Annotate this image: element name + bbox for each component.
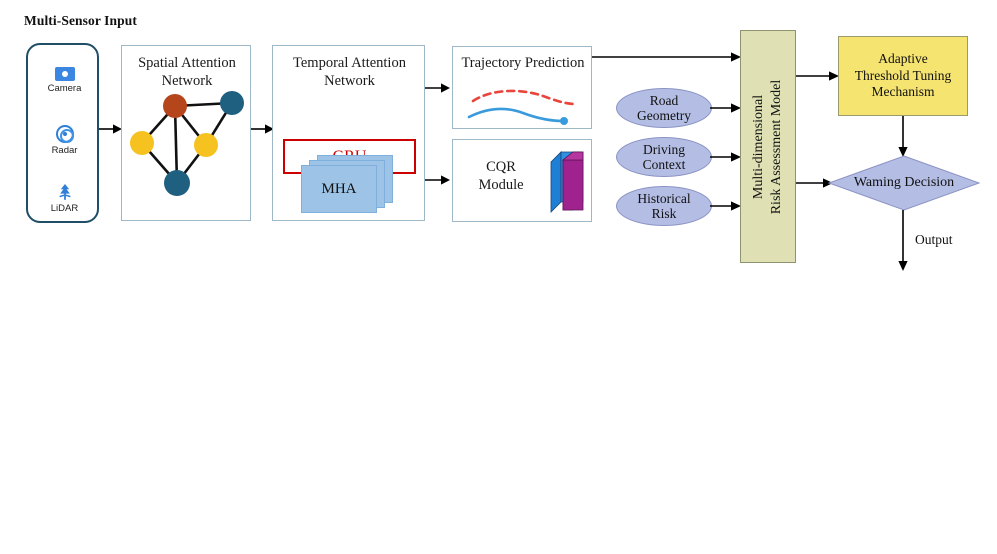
temporal-attention-title: Temporal Attention Network [273,55,426,90]
cqr-module-box[interactable]: CQR Module [452,139,592,222]
multi-sensor-input-box[interactable]: Camera Radar LiDAR [26,43,99,223]
risk-model-line2: Risk Assessment Model [768,79,786,214]
flowchart-diagram: Multi-Sensor Input Camera Radar LiDAR [0,0,997,554]
sensor-lidar-label: LiDAR [28,203,101,214]
trajectory-curves-icon [465,83,583,127]
warning-decision-label: Waming Decision [828,155,980,211]
risk-model-line1: Multi-dimensional [750,79,768,214]
trajectory-prediction-title: Trajectory Prediction [453,55,593,73]
output-label: Output [915,232,953,248]
adaptive-line2: Threshold Tuning [855,68,951,85]
arrow-driving-context-to-risk-model [710,150,742,164]
context-input-road-geometry[interactable]: Road Geometry [616,88,712,128]
context-input-driving-context[interactable]: Driving Context [616,137,712,177]
adaptive-threshold-label: Adaptive Threshold Tuning Mechanism [855,51,951,102]
adaptive-line3: Mechanism [855,84,951,101]
road-geometry-line2: Geometry [637,108,691,123]
sensor-radar-label: Radar [28,145,101,156]
spatial-title-line1: Spatial Attention [122,55,252,73]
arrow-temporal-to-cqr [425,173,451,187]
sensor-radar[interactable]: Radar [28,125,101,156]
sensor-camera[interactable]: Camera [28,67,101,94]
arrow-trajectory-to-risk-model [592,50,742,64]
graph-node [130,131,154,155]
graph-node [164,170,190,196]
temporal-title-line2: Network [273,73,426,91]
lidar-icon [55,183,75,201]
camera-icon [55,67,75,81]
spatial-attention-network-box[interactable]: Spatial Attention Network [121,45,251,221]
cqr-title-line2: Module [453,177,549,195]
driving-context-line1: Driving [643,142,686,157]
temporal-title-line1: Temporal Attention [273,55,426,73]
historical-risk-line2: Risk [637,206,690,221]
context-input-historical-risk[interactable]: Historical Risk [616,186,712,226]
radar-icon [56,125,74,143]
sensor-camera-label: Camera [28,83,101,94]
adaptive-line1: Adaptive [855,51,951,68]
cqr-module-title: CQR Module [453,159,549,194]
graph-node [220,91,244,115]
cqr-title-line1: CQR [453,159,549,177]
adaptive-threshold-tuning-mechanism-box[interactable]: Adaptive Threshold Tuning Mechanism [838,36,968,116]
arrow-road-geometry-to-risk-model [710,101,742,115]
arrow-risk-model-to-adaptive-threshold [796,69,840,83]
warning-decision-diamond[interactable]: Waming Decision [828,155,980,211]
driving-context-line2: Context [643,157,686,172]
multi-dimensional-risk-assessment-model-box[interactable]: Multi-dimensional Risk Assessment Model [740,30,796,263]
graph-node [194,133,218,157]
temporal-attention-network-box[interactable]: Temporal Attention Network GRU MHA [272,45,425,221]
arrow-sensors-to-spatial [99,122,123,136]
arrow-historical-risk-to-risk-model [710,199,742,213]
graph-network-icon [122,90,252,218]
arrow-adaptive-threshold-to-warning-decision [896,116,910,158]
sensor-lidar[interactable]: LiDAR [28,183,101,214]
arrow-temporal-to-trajectory [425,81,451,95]
arrow-warning-decision-to-output [896,210,910,272]
cqr-slab-icon [549,150,591,216]
mha-label: MHA [301,165,377,213]
page-title: Multi-Sensor Input [24,13,137,29]
spatial-title-line2: Network [122,73,252,91]
trajectory-prediction-box[interactable]: Trajectory Prediction [452,46,592,129]
road-geometry-line1: Road [637,93,691,108]
graph-node [163,94,187,118]
historical-risk-line1: Historical [637,191,690,206]
risk-model-label: Multi-dimensional Risk Assessment Model [750,79,786,214]
spatial-attention-title: Spatial Attention Network [122,55,252,90]
